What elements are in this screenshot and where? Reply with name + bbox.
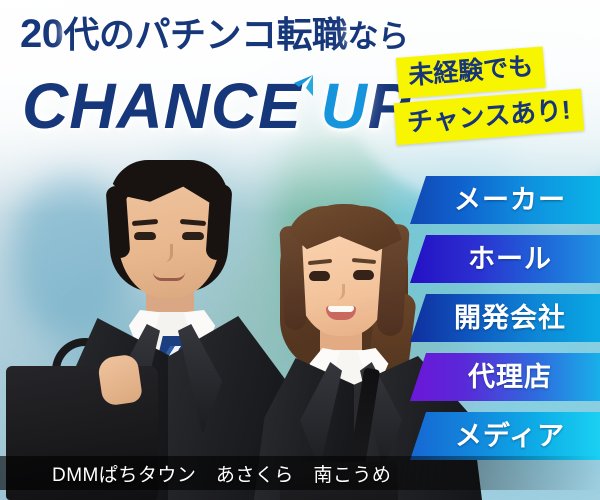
banner-advertisement[interactable]: 20代のパチンコ転職なら CHANCE UP 未経験でも チャンスあり! メーカ… — [0, 0, 600, 500]
chance-up-wordmark: CHANCE UP — [22, 74, 411, 138]
category-button-developer[interactable]: 開発会社 — [410, 294, 600, 342]
headline-number: 20 — [20, 12, 64, 56]
wordmark-u: U — [321, 74, 368, 138]
credit-bar: DMMぱちタウン あさくら 南こうめ — [22, 456, 600, 490]
category-label: 代理店 — [458, 364, 552, 391]
credit-text: DMMぱちタウン あさくら 南こうめ — [22, 460, 391, 487]
category-label: 開発会社 — [444, 305, 566, 332]
wordmark-chance: CHANCE — [22, 70, 302, 142]
experience-badge: 未経験でも チャンスあり! — [396, 44, 584, 145]
category-button-hall[interactable]: ホール — [410, 235, 600, 283]
category-label: ホール — [458, 246, 552, 273]
category-list: メーカー ホール 開発会社 代理店 メディア — [410, 176, 600, 460]
headline-number-suffix: 代の — [64, 14, 135, 55]
headline-text: 20代のパチンコ転職なら — [20, 14, 409, 54]
category-button-maker[interactable]: メーカー — [410, 176, 600, 224]
category-label: メディア — [445, 423, 565, 450]
headline-tail: なら — [348, 19, 409, 54]
headline-keyword: パチンコ転職 — [135, 14, 348, 55]
category-button-agency[interactable]: 代理店 — [410, 353, 600, 401]
category-button-media[interactable]: メディア — [410, 412, 600, 460]
category-label: メーカー — [444, 187, 566, 214]
